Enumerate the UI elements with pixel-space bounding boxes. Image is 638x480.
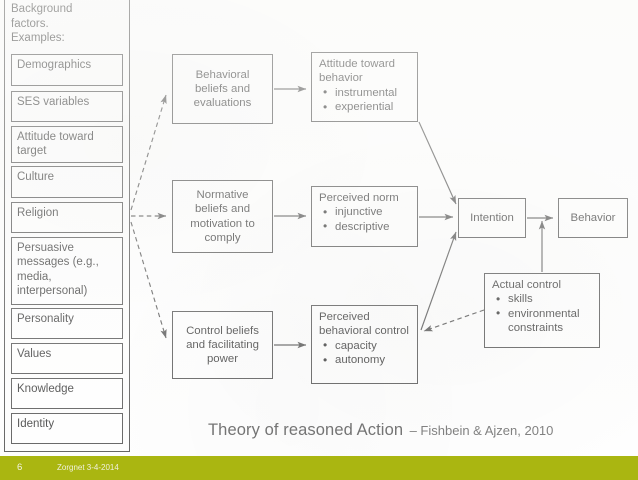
slide-footer-bar: 6 Zorgnet 3-4-2014 [0, 456, 638, 480]
arrow-background-to-behavioral [131, 95, 166, 210]
arrow-background-to-control [131, 222, 166, 338]
arrow-attitude-to-intention [419, 122, 456, 204]
diagram-connectors [0, 0, 638, 480]
slide-caption: Theory of reasoned Action – Fishbein & A… [208, 421, 553, 440]
caption-title: Theory of reasoned Action [208, 421, 403, 439]
arrow-actual-control-to-perceived-control [424, 310, 484, 331]
footer-label: Zorgnet 3-4-2014 [57, 463, 119, 472]
slide-number: 6 [17, 462, 22, 473]
caption-source: – Fishbein & Ajzen, 2010 [410, 423, 554, 438]
arrow-perceived-control-to-intention [421, 232, 456, 330]
slide-canvas: Background factors. Examples: Demographi… [0, 0, 638, 480]
